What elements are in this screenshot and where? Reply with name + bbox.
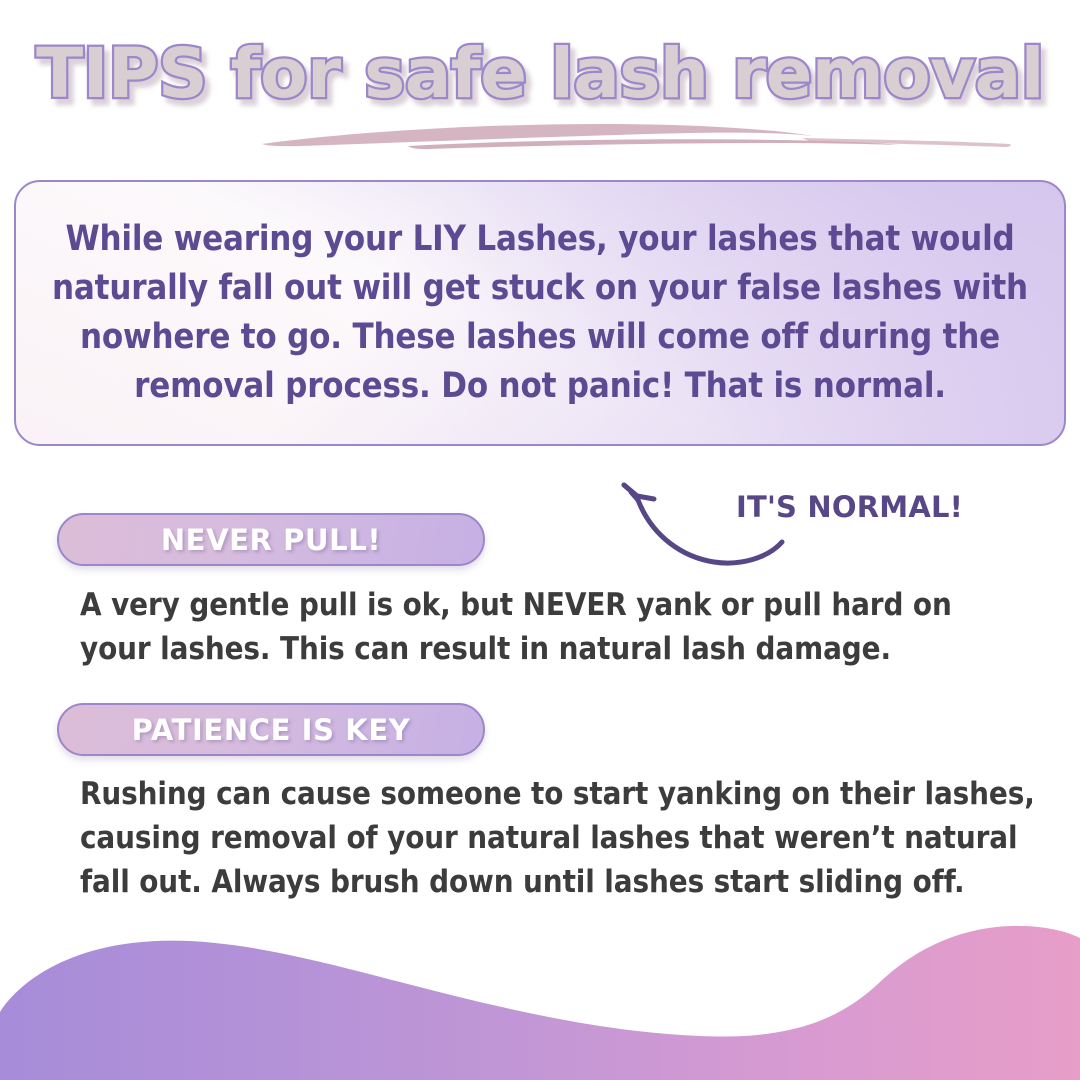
badge-never-pull[interactable]: NEVER PULL! [57, 513, 485, 566]
badge-patience-is-key[interactable]: PATIENCE IS KEY [57, 703, 485, 756]
its-normal-label: IT'S NORMAL! [736, 490, 963, 524]
title-stack: TIPS for safe lash removal TIPS for safe… [36, 40, 1044, 109]
paragraph-never-pull: A very gentle pull is ok, but NEVER yank… [80, 583, 1010, 671]
callout-box: While wearing your LIY Lashes, your lash… [14, 180, 1066, 446]
title-underline-swoosh [0, 112, 1080, 156]
poster-canvas: TIPS for safe lash removal TIPS for safe… [0, 0, 1080, 1080]
paragraph-patience-is-key: Rushing can cause someone to start yanki… [80, 772, 1040, 904]
badge-patience-is-key-label: PATIENCE IS KEY [132, 713, 411, 747]
badge-never-pull-label: NEVER PULL! [161, 523, 381, 557]
title-fill-layer: TIPS for safe lash removal [36, 34, 1044, 114]
bottom-wave-decoration [0, 920, 1080, 1080]
page-title: TIPS for safe lash removal TIPS for safe… [0, 40, 1080, 120]
callout-text: While wearing your LIY Lashes, your lash… [38, 215, 1042, 411]
